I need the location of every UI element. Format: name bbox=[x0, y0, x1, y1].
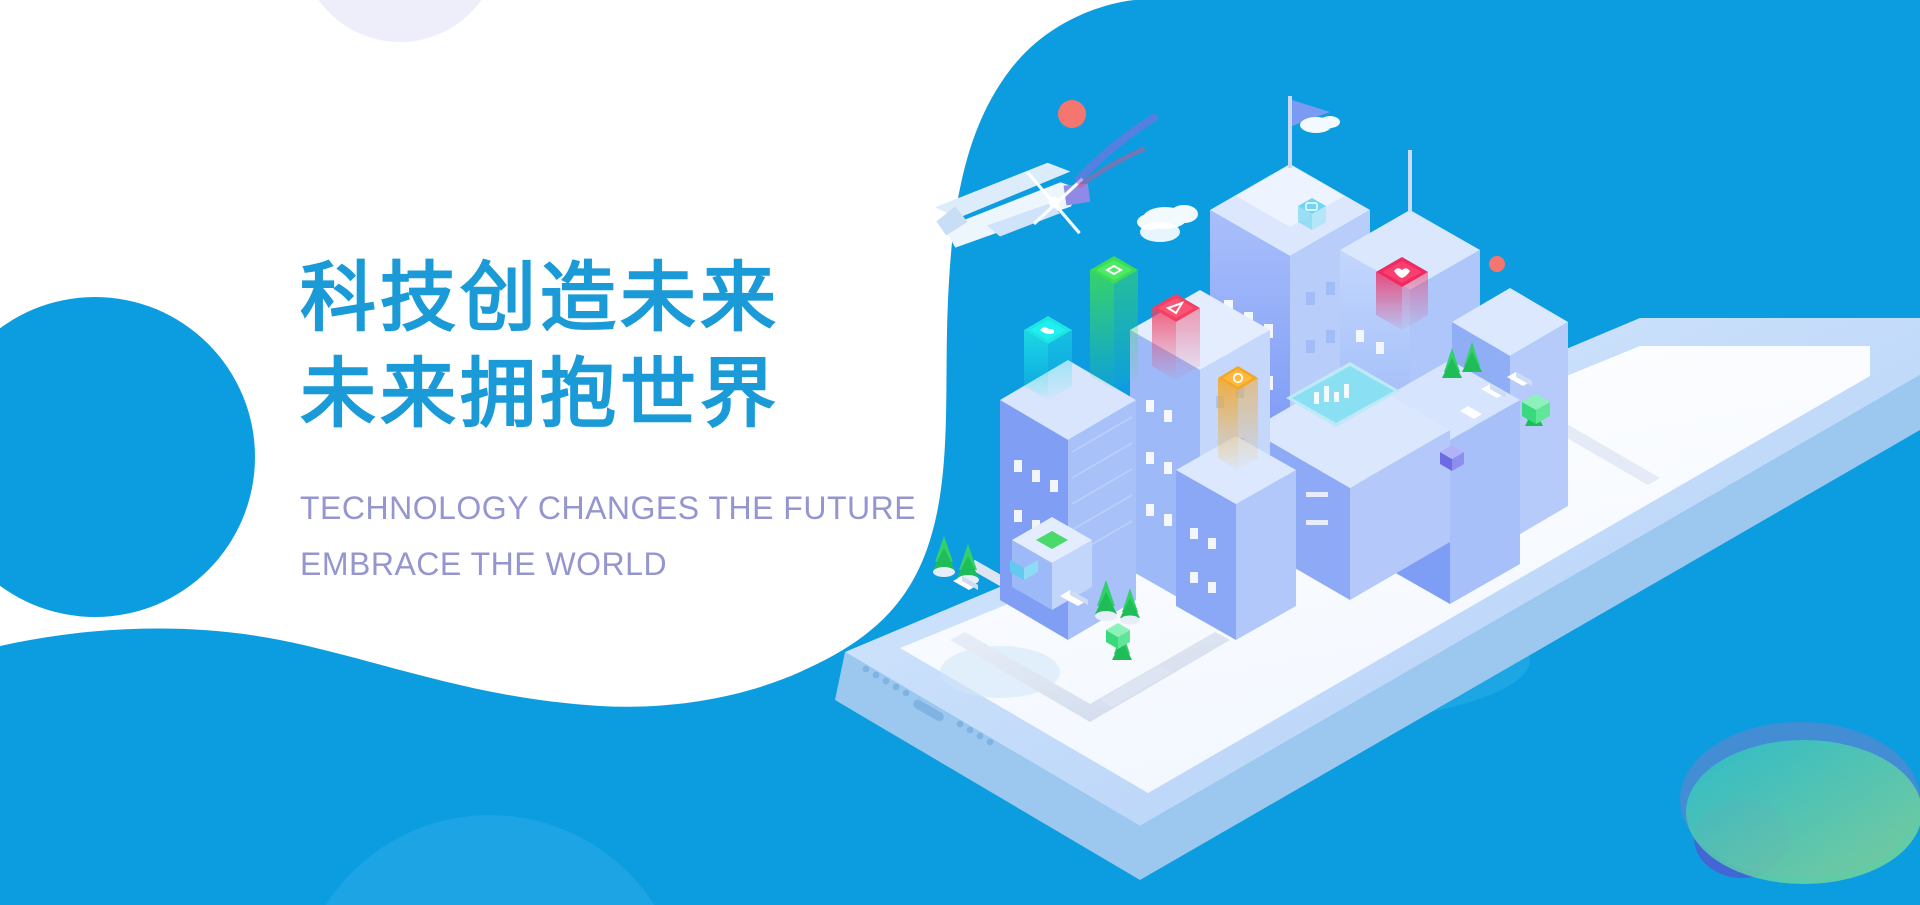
marker-pink bbox=[1376, 257, 1428, 330]
background-shapes bbox=[0, 0, 1920, 905]
marker-cyan bbox=[1024, 316, 1072, 400]
hero-copy: 科技创造未来 未来拥抱世界 TECHNOLOGY CHANGES THE FUT… bbox=[300, 250, 920, 592]
marker-orange bbox=[1218, 366, 1258, 470]
decor-ellipse-teal bbox=[1686, 740, 1920, 884]
hero-banner: 科技创造未来 未来拥抱世界 TECHNOLOGY CHANGES THE FUT… bbox=[0, 0, 1920, 905]
cloud-4 bbox=[1140, 222, 1180, 242]
headline-line-2: 未来拥抱世界 bbox=[300, 346, 920, 442]
marker-red bbox=[1152, 294, 1200, 380]
subtitle-block: TECHNOLOGY CHANGES THE FUTURE EMBRACE TH… bbox=[300, 480, 920, 592]
dot-red-small bbox=[1489, 256, 1505, 272]
dot-red-large bbox=[1058, 100, 1086, 128]
antenna bbox=[1408, 150, 1412, 212]
subtitle-line-2: EMBRACE THE WORLD bbox=[300, 536, 920, 592]
headline-line-1: 科技创造未来 bbox=[300, 250, 920, 346]
flag-pole bbox=[1288, 96, 1292, 168]
marker-green bbox=[1090, 256, 1138, 390]
subtitle-line-1: TECHNOLOGY CHANGES THE FUTURE bbox=[300, 480, 920, 536]
